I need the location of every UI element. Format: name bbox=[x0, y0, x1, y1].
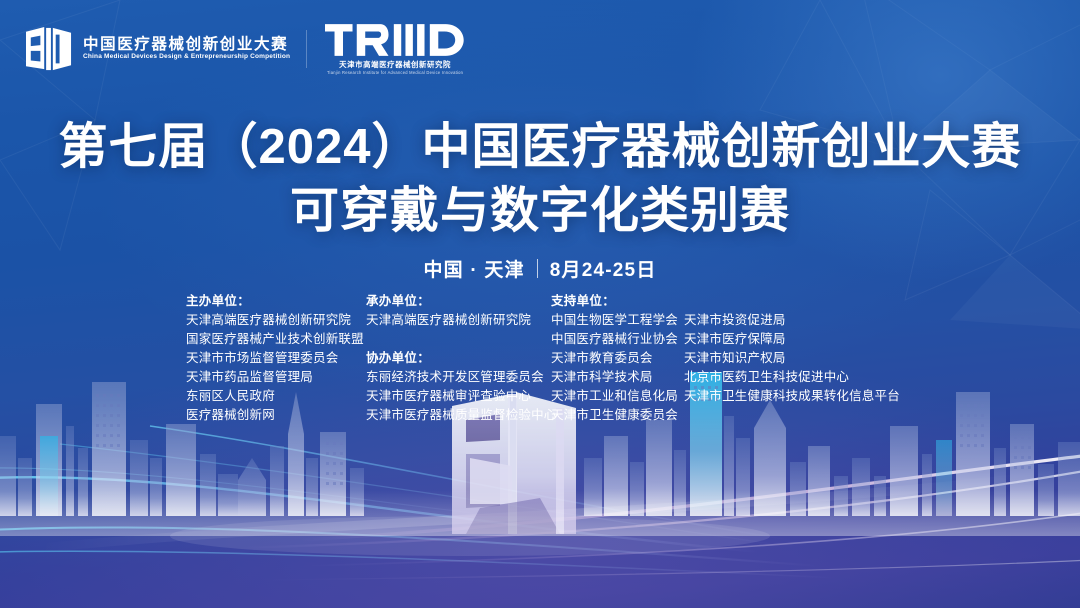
supporter-item: 中国医疗器械行业协会 bbox=[551, 330, 684, 349]
event-meta: 中国 · 天津 8月24-25日 bbox=[0, 255, 1080, 282]
organizer-block: 主办单位： 天津高端医疗器械创新研究院 国家医疗器械产业技术创新联盟 天津市市场… bbox=[186, 292, 894, 425]
header-logo-bar: 中国医疗器械创新创业大赛 China Medical Devices Desig… bbox=[24, 22, 465, 76]
institute-logo-en: Tianjin Research Institute for Advanced … bbox=[327, 71, 463, 75]
supporter-item: 北京市医药卫生科技促进中心 bbox=[684, 368, 894, 387]
open-door-logo bbox=[24, 26, 74, 72]
competition-logo[interactable]: 中国医疗器械创新创业大赛 China Medical Devices Desig… bbox=[24, 26, 288, 72]
host-item: 天津市市场监督管理委员会 bbox=[186, 349, 366, 368]
supporter-item: 天津市卫生健康科技成果转化信息平台 bbox=[684, 387, 894, 406]
title-line-2: 可穿戴与数字化类别赛 bbox=[0, 182, 1080, 240]
coorganizer-item: 东丽经济技术开发区管理委员会 bbox=[366, 368, 551, 387]
poster-title: 第七届（2024）中国医疗器械创新创业大赛 可穿戴与数字化类别赛 bbox=[0, 118, 1080, 241]
host-heading: 主办单位： bbox=[186, 292, 366, 311]
event-location: 中国 · 天津 bbox=[423, 255, 524, 282]
supporter-item: 天津市科学技术局 bbox=[551, 368, 684, 387]
supporters-left: 支持单位： 中国生物医学工程学会 中国医疗器械行业协会 天津市教育委员会 天津市… bbox=[551, 292, 684, 425]
title-line-1: 第七届（2024）中国医疗器械创新创业大赛 bbox=[0, 118, 1080, 176]
event-date: 8月24-25日 bbox=[550, 255, 657, 282]
logo-divider bbox=[306, 30, 307, 68]
host-item: 医疗器械创新网 bbox=[186, 406, 366, 425]
supporter-item: 天津市卫生健康委员会 bbox=[551, 406, 684, 425]
host-item: 天津市药品监督管理局 bbox=[186, 368, 366, 387]
column-spacer bbox=[684, 292, 894, 311]
organizer-column-host: 主办单位： 天津高端医疗器械创新研究院 国家医疗器械产业技术创新联盟 天津市市场… bbox=[186, 292, 366, 425]
host-item: 国家医疗器械产业技术创新联盟 bbox=[186, 330, 366, 349]
supporters-heading: 支持单位： bbox=[551, 292, 684, 311]
supporter-item: 天津市知识产权局 bbox=[684, 349, 894, 368]
supporter-item: 天津市医疗保障局 bbox=[684, 330, 894, 349]
organizer-column-undertaker: 承办单位： 天津高端医疗器械创新研究院 协办单位： 东丽经济技术开发区管理委员会… bbox=[366, 292, 551, 425]
competition-logo-cn: 中国医疗器械创新创业大赛 bbox=[83, 37, 288, 53]
undertaker-item: 天津高端医疗器械创新研究院 bbox=[366, 311, 551, 330]
coorganizer-heading: 协办单位： bbox=[366, 349, 551, 368]
host-item: 东丽区人民政府 bbox=[186, 387, 366, 406]
coorganizer-item: 天津市医疗器械审评查验中心 bbox=[366, 387, 551, 406]
organizer-column-supporters: 支持单位： 中国生物医学工程学会 中国医疗器械行业协会 天津市教育委员会 天津市… bbox=[551, 292, 894, 425]
institute-logo-cn: 天津市高端医疗器械创新研究院 bbox=[339, 61, 451, 68]
competition-logo-en: China Medical Devices Design & Entrepren… bbox=[83, 54, 292, 60]
undertaker-heading: 承办单位： bbox=[366, 292, 551, 311]
supporters-right: 天津市投资促进局 天津市医疗保障局 天津市知识产权局 北京市医药卫生科技促进中心… bbox=[684, 292, 894, 425]
coorganizer-item: 天津市医疗器械质量监督检验中心 bbox=[366, 406, 551, 425]
institute-logo[interactable]: 天津市高端医疗器械创新研究院 Tianjin Research Institut… bbox=[325, 22, 465, 76]
supporter-item: 天津市工业和信息化局 bbox=[551, 387, 684, 406]
triid-wordmark-icon bbox=[325, 22, 465, 58]
meta-separator bbox=[537, 259, 538, 278]
supporter-item: 天津市教育委员会 bbox=[551, 349, 684, 368]
supporter-item: 天津市投资促进局 bbox=[684, 311, 894, 330]
host-item: 天津高端医疗器械创新研究院 bbox=[186, 311, 366, 330]
supporter-item: 中国生物医学工程学会 bbox=[551, 311, 684, 330]
column-spacer bbox=[366, 330, 551, 349]
poster-canvas: 中国医疗器械创新创业大赛 China Medical Devices Desig… bbox=[0, 0, 1080, 608]
